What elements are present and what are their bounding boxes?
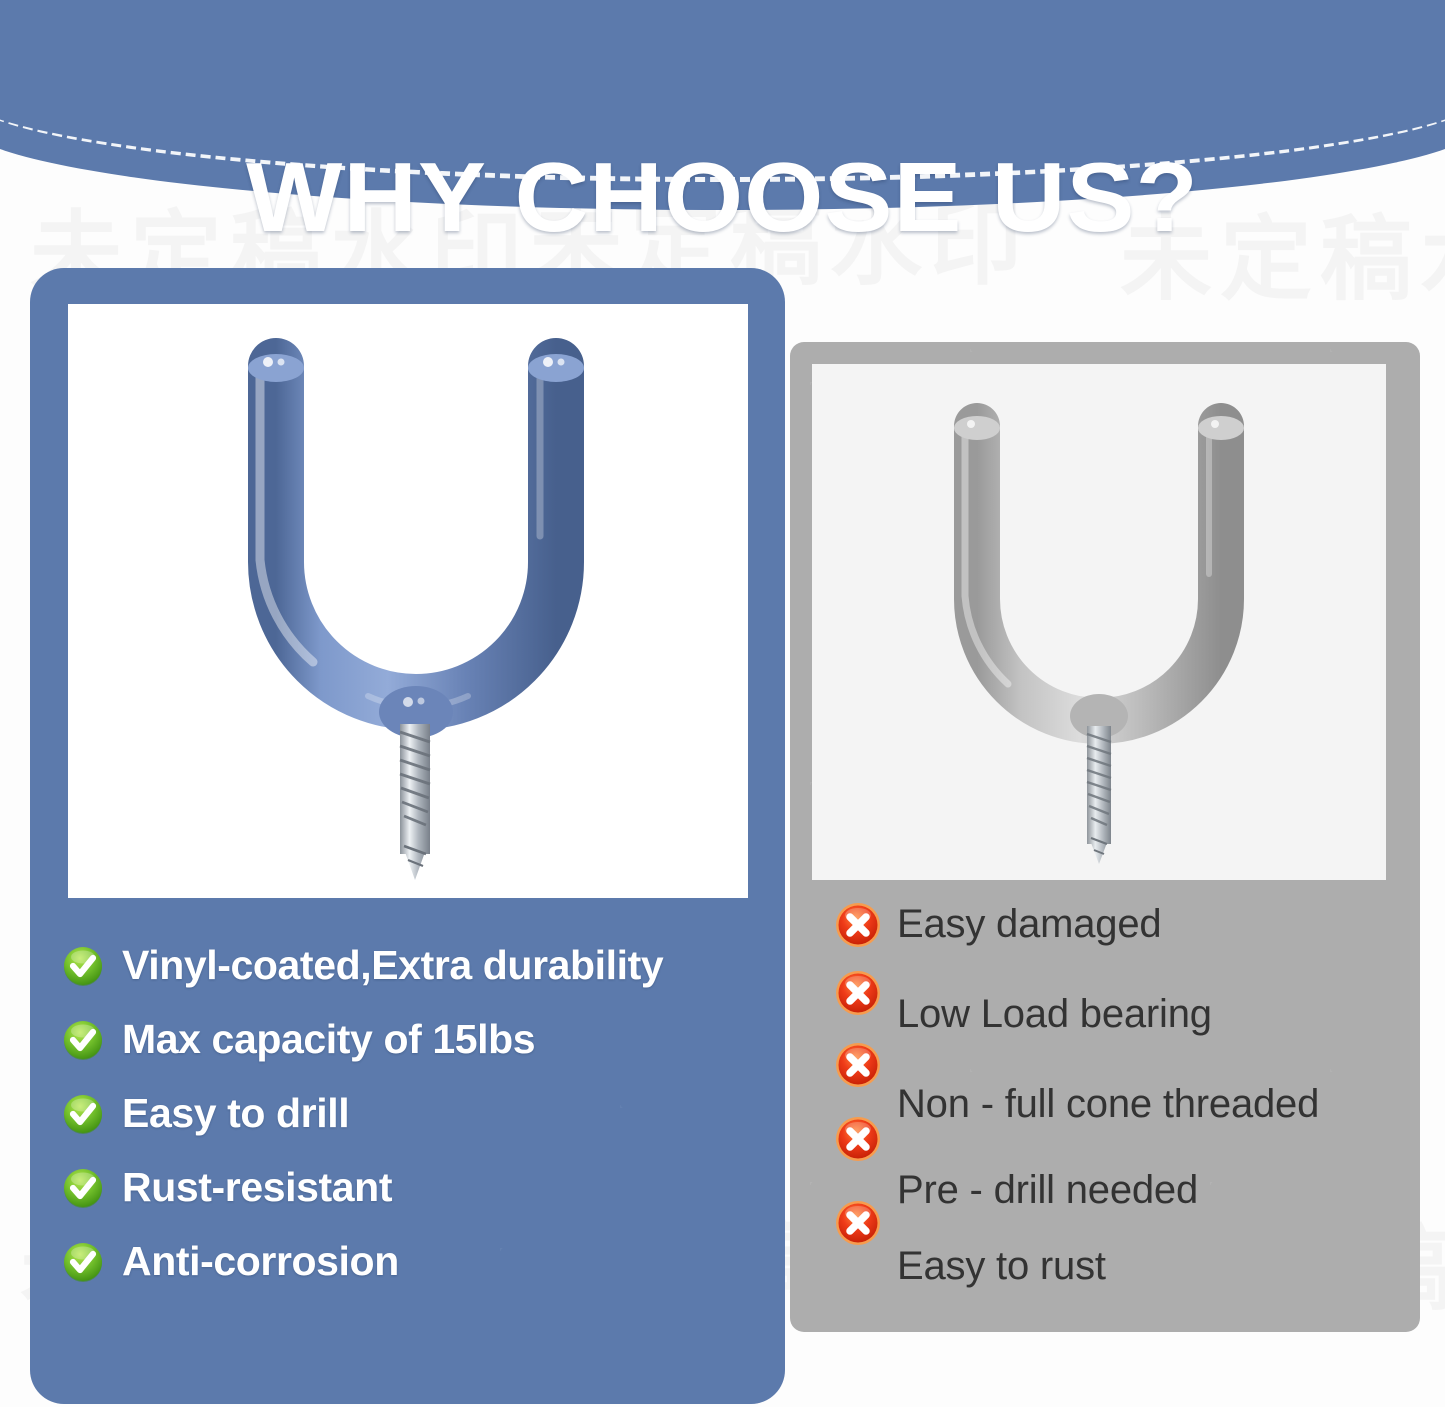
page-title: WHY CHOOSE US? (0, 148, 1445, 246)
list-item-label: Anti-corrosion (122, 1240, 399, 1283)
list-item-label: Easy to drill (122, 1092, 349, 1135)
green-check-icon (62, 1093, 104, 1135)
list-item: Easy to drill (62, 1092, 774, 1135)
our-product-photo (68, 304, 748, 898)
our-feature-list: Vinyl-coated,Extra durability Max capaci… (62, 944, 774, 1314)
red-cross-icon (835, 970, 881, 1016)
list-item-label: Vinyl-coated,Extra durability (122, 944, 663, 987)
list-item: Pre - drill needed (835, 1118, 1435, 1190)
list-item: Vinyl-coated,Extra durability (62, 944, 774, 987)
list-item-label: Rust-resistant (122, 1166, 392, 1209)
list-item: Non - full cone threaded (835, 1046, 1435, 1118)
red-cross-icon (835, 1042, 881, 1088)
list-item: Rust-resistant (62, 1166, 774, 1209)
list-item: Max capacity of 15lbs (62, 1018, 774, 1061)
red-cross-icon (835, 902, 881, 948)
list-item: Anti-corrosion (62, 1240, 774, 1283)
green-check-icon (62, 1019, 104, 1061)
green-check-icon (62, 945, 104, 987)
list-item: Easy damaged (835, 902, 1435, 974)
competitor-feature-list: Easy damaged Low Load bearing Non - full… (835, 902, 1435, 1262)
list-item: Low Load bearing (835, 974, 1435, 1046)
green-check-icon (62, 1167, 104, 1209)
list-item-label: Easy to rust (897, 1246, 1106, 1286)
list-item-label: Easy damaged (897, 904, 1161, 944)
list-item-label: Pre - drill needed (897, 1170, 1198, 1210)
green-check-icon (62, 1241, 104, 1283)
our-product-panel: Vinyl-coated,Extra durability Max capaci… (30, 268, 785, 1404)
list-item-label: Max capacity of 15lbs (122, 1018, 535, 1061)
list-item-label: Non - full cone threaded (897, 1084, 1319, 1124)
competitor-product-photo (812, 364, 1386, 880)
red-cross-icon (835, 1116, 881, 1162)
red-cross-icon (835, 1200, 881, 1246)
list-item-label: Low Load bearing (897, 994, 1212, 1034)
